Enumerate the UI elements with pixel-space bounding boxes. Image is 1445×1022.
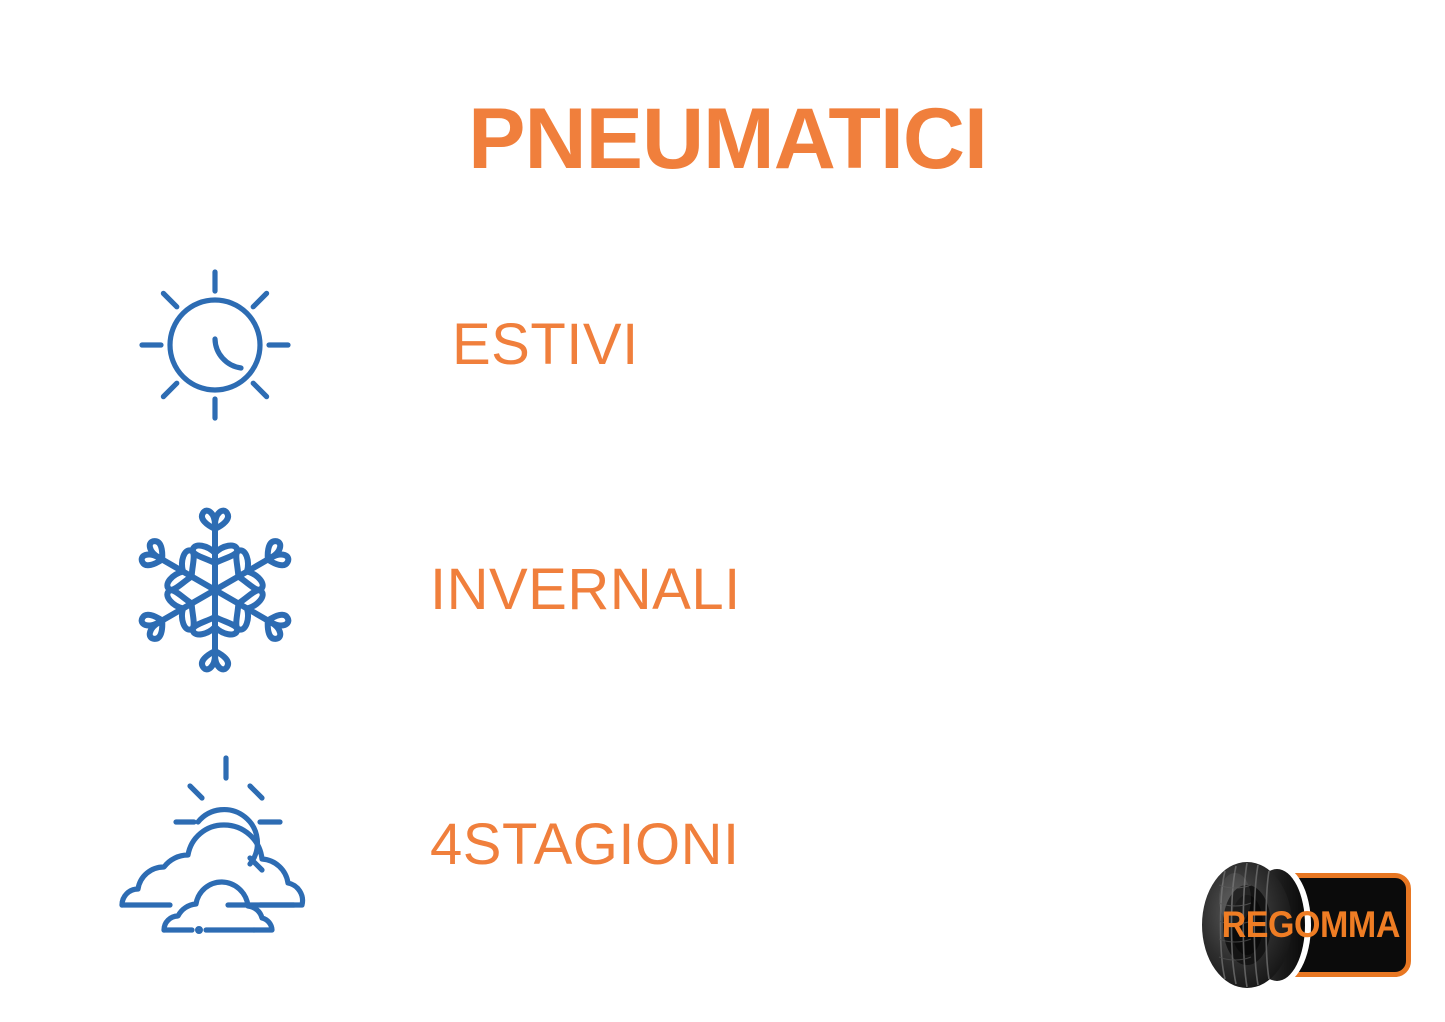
sun-icon bbox=[130, 260, 300, 430]
brand-logo[interactable]: REGOMMA bbox=[1195, 855, 1417, 995]
season-label-estivi: ESTIVI bbox=[430, 316, 639, 374]
snowflake-icon-cell bbox=[0, 495, 430, 685]
snowflake-icon bbox=[129, 495, 301, 685]
season-row-estivi: ESTIVI bbox=[0, 250, 1000, 440]
label-cell-invernali: INVERNALI bbox=[430, 495, 1000, 685]
season-row-4stagioni: 4STAGIONI bbox=[0, 750, 1000, 940]
label-cell-4stagioni: 4STAGIONI bbox=[430, 750, 1000, 940]
sun-behind-clouds-icon bbox=[108, 750, 323, 940]
page-title: PNEUMATICI bbox=[0, 96, 1445, 182]
logo-text: REGOMMA bbox=[1255, 873, 1411, 977]
label-cell-estivi: ESTIVI bbox=[430, 250, 1000, 440]
sun-icon-cell bbox=[0, 250, 430, 440]
season-row-invernali: INVERNALI bbox=[0, 495, 1000, 685]
season-label-4stagioni: 4STAGIONI bbox=[430, 816, 740, 874]
season-label-invernali: INVERNALI bbox=[430, 561, 741, 619]
sun-behind-clouds-icon-cell bbox=[0, 750, 430, 940]
